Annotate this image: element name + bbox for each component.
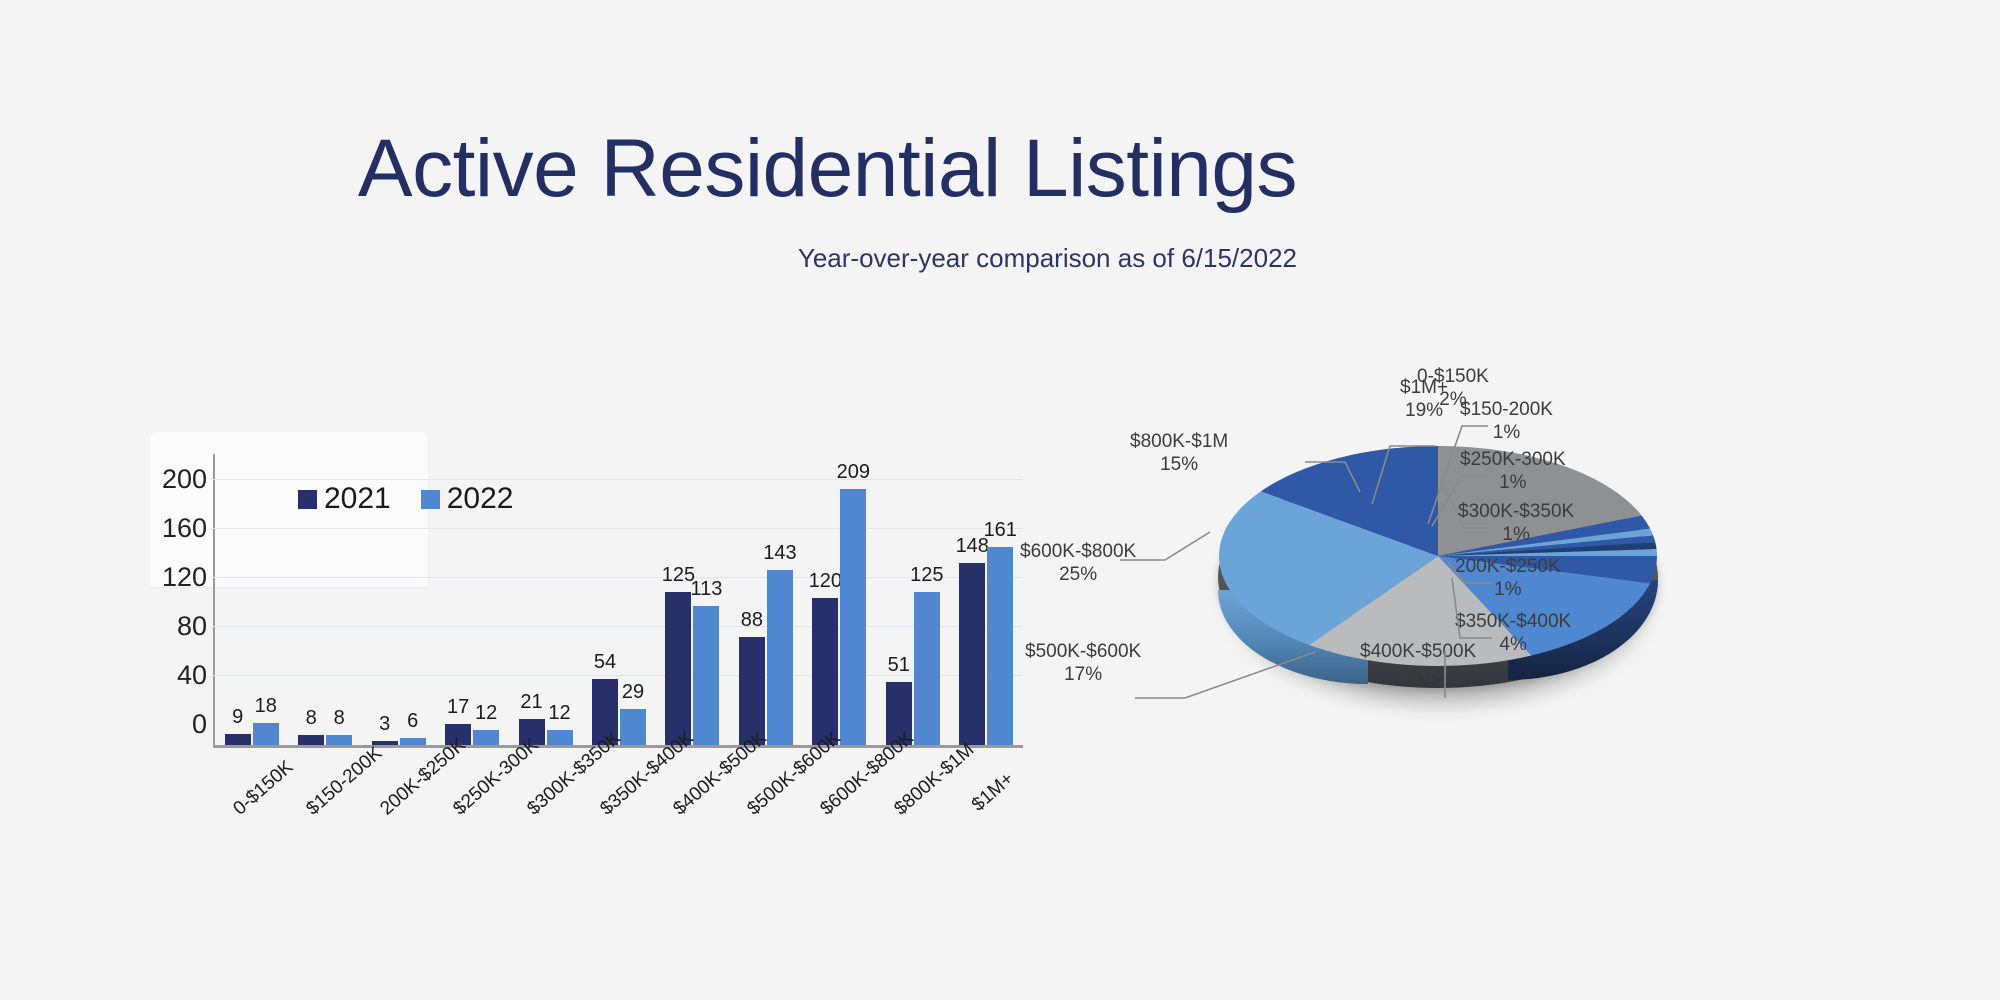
bar-value-label: 113 [690, 579, 722, 599]
bar-value-label: 9 [232, 707, 243, 727]
y-axis-tick-label: 120 [137, 564, 207, 591]
bar-2022[interactable]: 6 [400, 738, 426, 745]
pie-leader-line [1135, 652, 1315, 698]
bar-group: 5429 [592, 679, 646, 745]
leader-lines-svg [1060, 420, 1990, 860]
bar-value-label: 12 [475, 703, 497, 723]
x-axis-labels: 0-$150K$150-200K200K-$250K$250K-300K$300… [215, 772, 1023, 867]
y-axis-tick-label: 0 [137, 711, 207, 738]
pie-leader-line [1305, 462, 1360, 492]
bar-value-label: 143 [763, 543, 796, 563]
bar-2022[interactable]: 161 [987, 547, 1013, 745]
bar-2022[interactable]: 12 [547, 730, 573, 745]
pie-leader-line [1428, 426, 1488, 524]
pie-slice-label: $1M+19% [1400, 376, 1448, 422]
bar-plot-area: 20016012080400 2021 2022 918883617122112… [213, 454, 1023, 769]
bar-value-label: 125 [910, 565, 943, 585]
bar-value-label: 21 [520, 692, 542, 712]
bar-2022[interactable]: 29 [620, 709, 646, 745]
bar-2022[interactable]: 209 [840, 489, 866, 746]
bar-2021[interactable]: 148 [959, 563, 985, 745]
bar-group: 51125 [886, 592, 940, 745]
pie-leader-line [1452, 578, 1492, 638]
pie-leader-line [1441, 480, 1490, 528]
x-axis-label: $1M+ [964, 764, 1064, 866]
pie-leader-line [1120, 532, 1210, 560]
y-axis-tick-label: 40 [137, 662, 207, 689]
bar-2022[interactable]: 125 [914, 592, 940, 745]
bars-area: 9188836171221125429125113881431202095112… [215, 475, 1023, 745]
y-axis-tick-label: 200 [137, 466, 207, 493]
bar-2022[interactable]: 18 [253, 723, 279, 745]
bar-2022[interactable]: 12 [473, 730, 499, 745]
page-subtitle: Year-over-year comparison as of 6/15/202… [798, 245, 1297, 271]
bar-value-label: 6 [407, 711, 418, 731]
bar-value-label: 8 [306, 708, 317, 728]
bar-group: 120209 [812, 489, 866, 746]
bar-2021[interactable]: 9 [225, 734, 251, 745]
bar-group: 125113 [665, 592, 719, 745]
bar-value-label: 8 [334, 708, 345, 728]
header: Active Residential Listings Year-over-ye… [0, 0, 2000, 300]
pie-chart: $800K-$1M15%$600K-$800K25%$500K-$600K17%… [1060, 420, 1990, 860]
bar-value-label: 51 [888, 655, 910, 675]
bar-group: 88 [298, 735, 352, 745]
pie-slice-name: $1M+ [1400, 376, 1448, 399]
y-axis-tick-label: 80 [137, 613, 207, 640]
bar-value-label: 120 [809, 571, 842, 591]
bar-value-label: 3 [379, 714, 390, 734]
bar-2021[interactable]: 8 [298, 735, 324, 745]
bar-value-label: 88 [741, 610, 763, 630]
bar-2021[interactable]: 3 [372, 741, 398, 745]
bar-group: 918 [225, 723, 279, 745]
bar-2021[interactable]: 120 [812, 598, 838, 745]
y-axis-tick-label: 160 [137, 515, 207, 542]
pie-slice-percent: 19% [1400, 399, 1448, 422]
bar-value-label: 161 [984, 520, 1017, 540]
bar-2022[interactable]: 8 [326, 735, 352, 745]
bar-value-label: 18 [255, 696, 277, 716]
pie-leader-line [1448, 562, 1492, 583]
page-title: Active Residential Listings [358, 128, 1297, 210]
bar-group: 148161 [959, 547, 1013, 745]
bar-value-label: 12 [548, 703, 570, 723]
bar-chart: 20016012080400 2021 2022 918883617122112… [150, 432, 1060, 842]
bar-value-label: 209 [837, 462, 870, 482]
bar-value-label: 54 [594, 652, 616, 672]
bar-2022[interactable]: 143 [767, 570, 793, 746]
bar-value-label: 29 [622, 682, 644, 702]
bar-group: 88143 [739, 570, 793, 746]
pie-leader-line [1372, 446, 1435, 504]
bar-value-label: 17 [447, 697, 469, 717]
bar-2022[interactable]: 113 [693, 606, 719, 745]
bar-group: 36 [372, 738, 426, 745]
bar-2021[interactable]: 125 [665, 592, 691, 745]
bar-2021[interactable]: 88 [739, 637, 765, 745]
